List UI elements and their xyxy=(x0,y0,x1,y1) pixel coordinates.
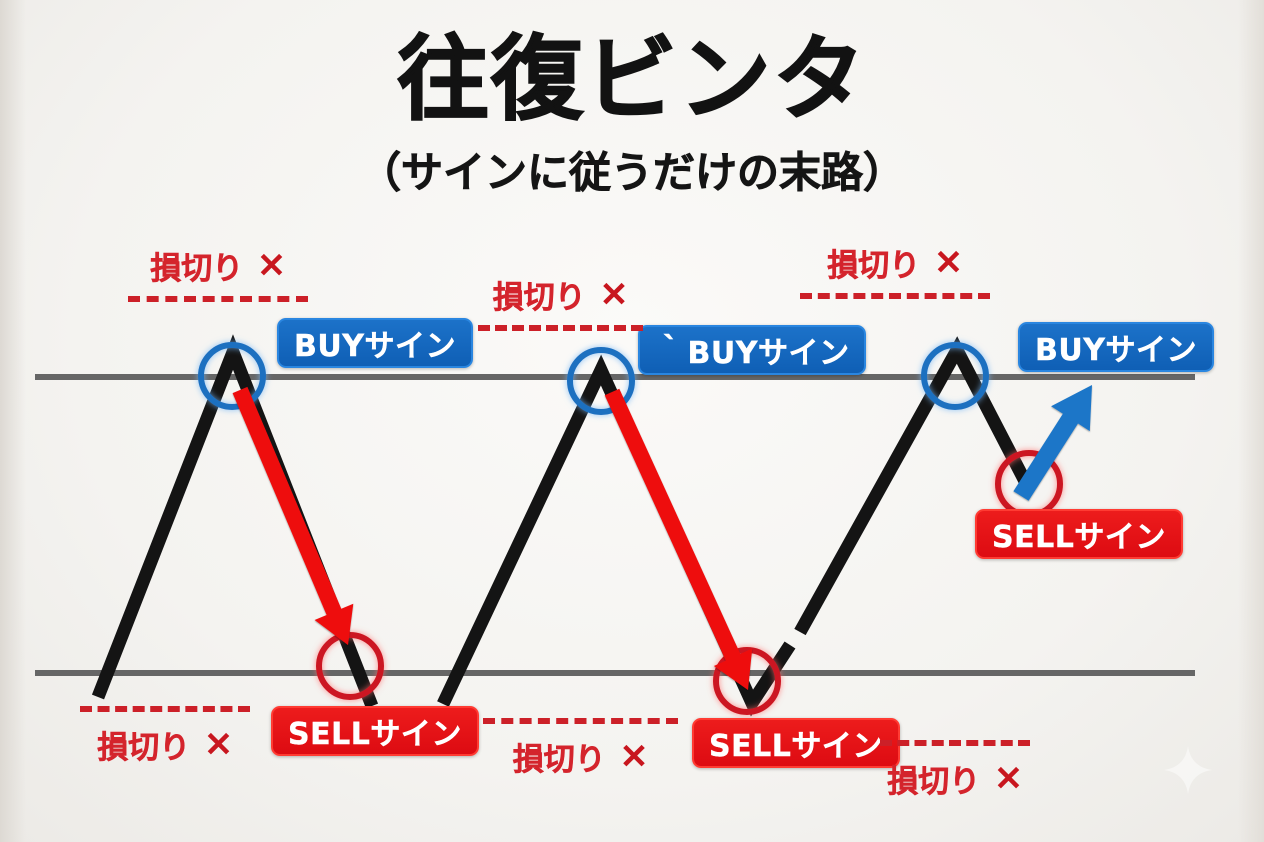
cross-icon: ✕ xyxy=(204,728,233,762)
sell-signal-badge[interactable]: SELLサイン xyxy=(271,706,479,756)
stoploss-label: 損切り xyxy=(513,734,606,779)
badge-label: BUYサイン xyxy=(1035,325,1197,369)
slide-canvas: 往復ビンタ （サインに従うだけの末路） BUYサインSELLサイン｀ xyxy=(0,0,1264,842)
loss-move-down-arrow xyxy=(605,389,753,690)
sparkle-icon xyxy=(1160,742,1216,798)
stoploss-dashed-line xyxy=(880,740,1030,746)
stoploss-text-row: 損切り✕ xyxy=(827,240,963,285)
move-arrow-group xyxy=(233,385,1092,690)
stoploss-label: 損切り xyxy=(493,272,586,317)
price-line xyxy=(800,350,1028,632)
stoploss-text-row: 損切り✕ xyxy=(887,756,1023,801)
stoploss-dashed-line xyxy=(800,293,990,299)
cross-icon: ✕ xyxy=(994,762,1023,796)
rally-up-arrow xyxy=(1013,385,1092,501)
stoploss-text-row: 損切り✕ xyxy=(493,272,629,317)
badge-label: SELLサイン xyxy=(992,512,1166,556)
stoploss-text-row: 損切り✕ xyxy=(97,722,233,767)
signal-circle-group xyxy=(201,345,1060,712)
stoploss-text-row: 損切り✕ xyxy=(150,243,286,288)
badge-prefix-mark: ｀ xyxy=(655,328,686,372)
stoploss-annotation: 損切り✕ xyxy=(478,272,643,331)
buy-signal-badge[interactable]: ｀BUYサイン xyxy=(638,325,866,375)
stoploss-dashed-line xyxy=(483,718,678,724)
stoploss-annotation: 損切り✕ xyxy=(80,706,250,767)
badge-label: SELLサイン xyxy=(288,709,462,753)
cross-icon: ✕ xyxy=(934,246,963,280)
stoploss-label: 損切り xyxy=(887,756,980,801)
sell-signal-badge[interactable]: SELLサイン xyxy=(692,718,900,768)
stoploss-label: 損切り xyxy=(827,240,920,285)
badge-label: BUYサイン xyxy=(294,321,456,365)
stoploss-annotation: 損切り✕ xyxy=(128,243,308,302)
loss-move-down-arrow xyxy=(233,387,354,645)
cross-icon: ✕ xyxy=(257,249,286,283)
buy-signal-badge[interactable]: BUYサイン xyxy=(277,318,473,368)
sell-signal-badge[interactable]: SELLサイン xyxy=(975,509,1183,559)
stoploss-text-row: 損切り✕ xyxy=(513,734,649,779)
stoploss-label: 損切り xyxy=(97,722,190,767)
stoploss-annotation: 損切り✕ xyxy=(880,740,1030,801)
badge-label: BUYサイン xyxy=(688,328,850,372)
stoploss-dashed-line xyxy=(128,296,308,302)
cross-icon: ✕ xyxy=(620,740,649,774)
badge-label: SELLサイン xyxy=(709,721,883,765)
stoploss-dashed-line xyxy=(80,706,250,712)
buy-signal-badge[interactable]: BUYサイン xyxy=(1018,322,1214,372)
stoploss-label: 損切り xyxy=(150,243,243,288)
stoploss-annotation: 損切り✕ xyxy=(483,718,678,779)
stoploss-dashed-line xyxy=(478,325,643,331)
cross-icon: ✕ xyxy=(600,278,629,312)
stoploss-annotation: 損切り✕ xyxy=(800,240,990,299)
